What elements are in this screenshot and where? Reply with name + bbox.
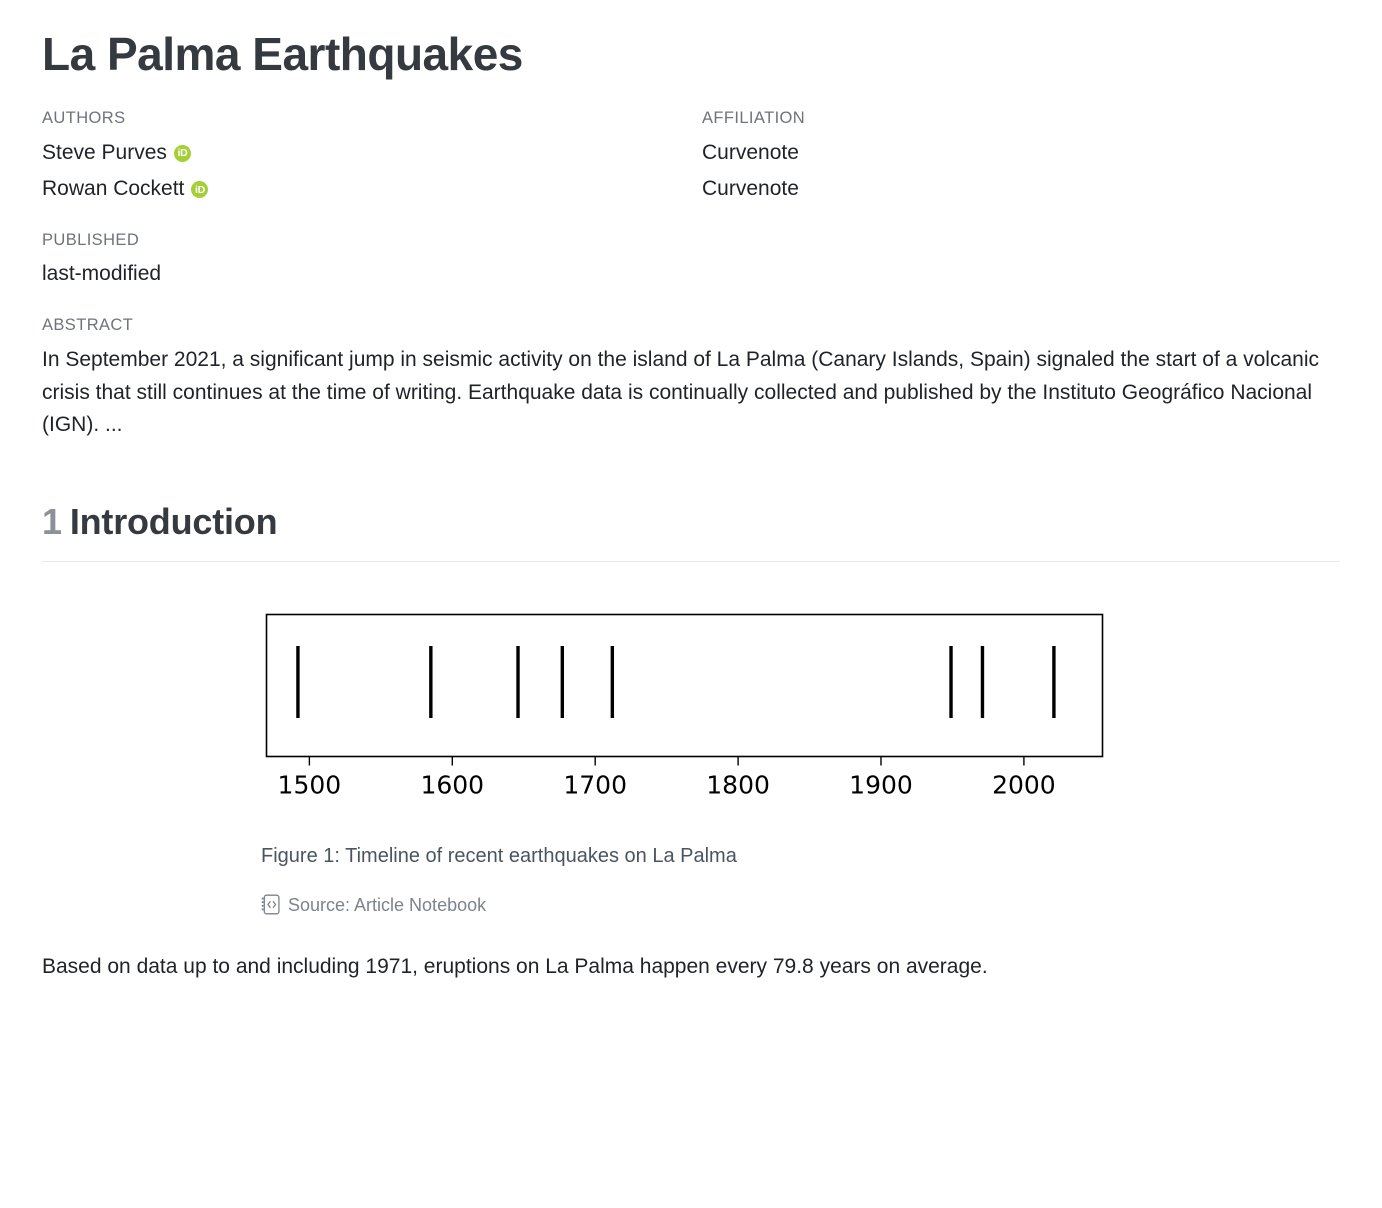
author-entry: Rowan Cockett iD — [42, 173, 702, 205]
page-title: La Palma Earthquakes — [42, 0, 1340, 81]
affiliation-label: AFFILIATION — [702, 109, 1340, 129]
plot-frame — [267, 615, 1103, 757]
x-axis: 150016001700180019002000 — [278, 757, 1056, 800]
figure-inner: 150016001700180019002000 Figure 1: Timel… — [261, 600, 1121, 915]
section-title: Introduction — [70, 501, 278, 542]
abstract-text: In September 2021, a significant jump in… — [42, 344, 1340, 442]
published-block: PUBLISHED last-modified — [42, 231, 1340, 290]
authors-label: AUTHORS — [42, 109, 702, 129]
x-axis-tick-label: 1700 — [563, 771, 627, 800]
author-name[interactable]: Steve Purves — [42, 137, 167, 169]
frontmatter: AUTHORS Steve Purves iD Rowan Cockett iD… — [42, 109, 1340, 442]
section-divider — [42, 561, 1340, 562]
section-number: 1 — [42, 501, 62, 542]
figure-source: Source: Article Notebook — [261, 894, 1121, 915]
abstract-label: ABSTRACT — [42, 316, 1340, 336]
section-heading-introduction: 1Introduction — [42, 500, 1340, 543]
x-axis-tick-label: 2000 — [992, 771, 1056, 800]
published-value: last-modified — [42, 258, 1340, 290]
orcid-icon[interactable]: iD — [174, 145, 191, 162]
x-axis-tick-label: 1500 — [278, 771, 342, 800]
figure-caption: Figure 1: Timeline of recent earthquakes… — [261, 842, 1121, 870]
x-axis-tick-label: 1600 — [420, 771, 484, 800]
article-page: La Palma Earthquakes AUTHORS Steve Purve… — [0, 0, 1382, 1208]
timeline-plot: 150016001700180019002000 — [261, 600, 1121, 810]
authors-column: AUTHORS Steve Purves iD Rowan Cockett iD — [42, 109, 702, 205]
published-label: PUBLISHED — [42, 231, 1340, 251]
x-axis-tick-label: 1900 — [849, 771, 913, 800]
body-paragraph: Based on data up to and including 1971, … — [42, 951, 1312, 984]
orcid-icon[interactable]: iD — [191, 181, 208, 198]
source-label[interactable]: Source: Article Notebook — [288, 896, 486, 914]
abstract-block: ABSTRACT In September 2021, a significan… — [42, 316, 1340, 442]
x-axis-tick-label: 1800 — [706, 771, 770, 800]
figure-1: 150016001700180019002000 Figure 1: Timel… — [42, 600, 1340, 915]
author-name[interactable]: Rowan Cockett — [42, 173, 184, 205]
author-entry: Steve Purves iD — [42, 137, 702, 169]
affiliation-column: AFFILIATION Curvenote Curvenote — [702, 109, 1340, 205]
affiliation-value: Curvenote — [702, 173, 1340, 205]
affiliation-value: Curvenote — [702, 137, 1340, 169]
notebook-code-icon[interactable] — [261, 894, 280, 915]
frontmatter-columns: AUTHORS Steve Purves iD Rowan Cockett iD… — [42, 109, 1340, 205]
